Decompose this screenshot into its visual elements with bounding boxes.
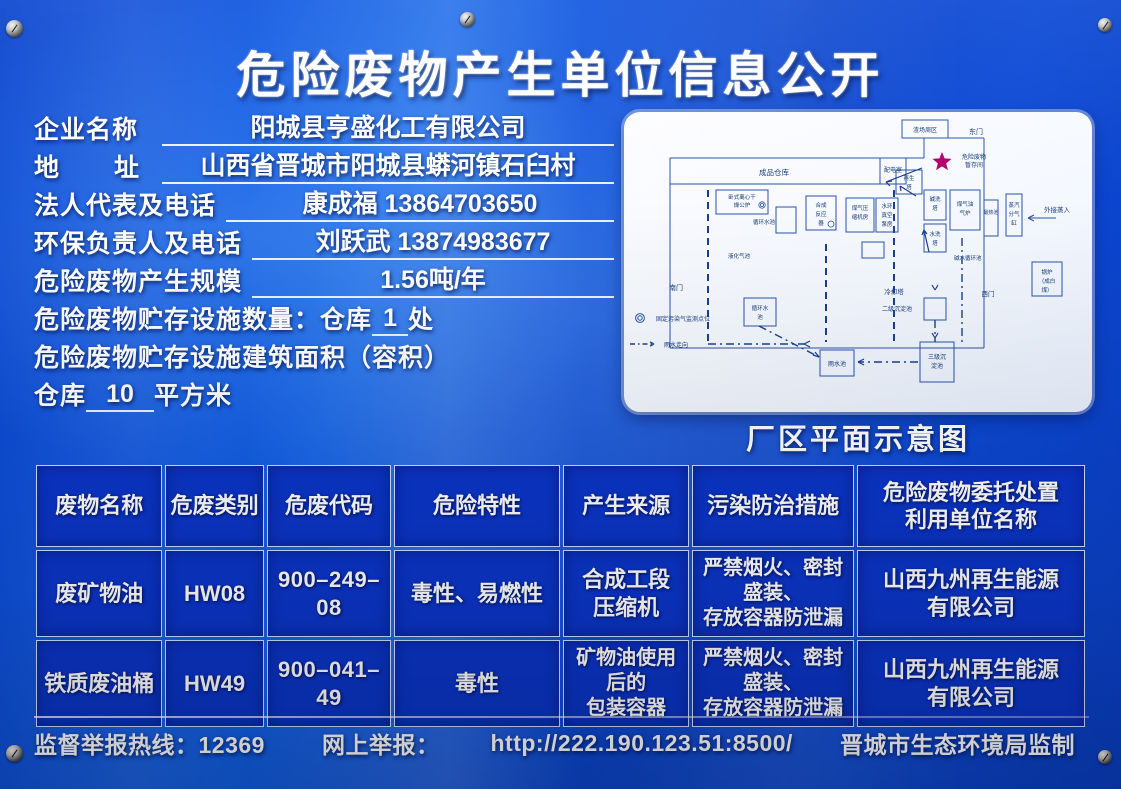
plan-label-alkali-circ: 碱水循环池 <box>954 254 982 262</box>
header-source: 产生来源 <box>563 465 689 547</box>
company-label: 企业名称 <box>34 110 152 146</box>
plan-label-alkali-line2: 塔 <box>932 204 938 212</box>
footer-report-label: 网上举报： <box>312 726 440 760</box>
cell-measures-line1: 严禁烟火、密封盛装、 <box>696 556 850 606</box>
plan-label-circ-water-1: 循环水池 <box>753 218 776 226</box>
plan-label-furnace-line2: 气炉 <box>959 209 971 217</box>
plan-monitor-point-icon-1 <box>759 202 765 208</box>
plan-monitor-point-inner-1-icon <box>760 203 763 206</box>
cell-waste-category: HW08 <box>165 550 263 637</box>
env-officer-label: 环保负责人及电话 <box>34 224 242 260</box>
plan-label-east-gate: 东门 <box>969 127 983 136</box>
header-entrusted-unit-line1: 危险废物委托处置 <box>861 479 1081 507</box>
plan-label-steam-sep-line1: 蒸汽 <box>1008 201 1020 209</box>
cell-hazard-property: 毒性 <box>394 640 560 727</box>
header-waste-name: 废物名称 <box>36 465 162 547</box>
info-row-area-value: 仓库 10 平方米 <box>34 374 614 412</box>
header-hazard-property: 危险特性 <box>394 465 560 547</box>
site-plan-image: 成品仓库 配电室 渣场周区 东门 危险废物 暂存间 <box>624 112 1092 412</box>
plan-label-boiler-line1: 锅炉 <box>1041 268 1053 276</box>
plan-label-centrifuge-line2: 燥公炉 <box>734 201 751 209</box>
plan-label-regeneration-line1: 再生 <box>903 174 915 182</box>
footer-report-url[interactable]: http://222.190.123.51:8500/ <box>487 730 793 757</box>
plan-label-external-steam: 外接蒸入 <box>1044 205 1071 214</box>
plan-label-liquefied-gas: 液化气池 <box>728 252 751 260</box>
cell-measures-line1: 严禁烟火、密封盛装、 <box>696 646 850 696</box>
info-row-legal: 法人代表及电话 康成福 13864703650 <box>34 184 614 222</box>
plan-label-compressor-line1: 煤气压 <box>852 204 869 212</box>
cell-waste-name: 铁质废油桶 <box>36 640 162 727</box>
plan-label-south-gate: 南门 <box>669 283 683 292</box>
generation-scale-label: 危险废物产生规模 <box>34 262 242 298</box>
plan-legend-flow-label: 雨水走向 <box>664 341 688 349</box>
plan-label-third-settling-line1: 三级沉 <box>928 353 946 361</box>
table-row: 废矿物油 HW08 900–249–08 毒性、易燃性 合成工段 压缩机 严禁烟… <box>36 550 1085 637</box>
plan-label-synthesis-line3: 器 <box>818 220 824 227</box>
info-row-env-officer: 环保负责人及电话 刘跃武 13874983677 <box>34 222 614 260</box>
screw-top-middle-icon <box>460 12 475 27</box>
site-plan-drawing: 成品仓库 配电室 渣场周区 东门 危险废物 暂存间 <box>624 112 1092 412</box>
plan-label-compressor-line2: 缩机房 <box>852 213 869 221</box>
info-row-address: 地 址 山西省晋城市阳城县蟒河镇石臼村 <box>34 146 614 184</box>
plan-monitor-point-icon-2 <box>828 221 834 227</box>
plan-label-boiler-line2: （成白 <box>1039 277 1056 285</box>
header-entrusted-unit: 危险废物委托处置 利用单位名称 <box>857 465 1085 547</box>
legal-representative-label: 法人代表及电话 <box>34 186 216 222</box>
plan-label-heat-box: 最热池 <box>983 209 998 216</box>
plan-label-steam-sep-line3: 缸 <box>1011 219 1017 227</box>
plan-label-vacuum-line1: 水环 <box>881 202 893 210</box>
address-value: 山西省晋城市阳城县蟒河镇石臼村 <box>162 151 614 184</box>
plan-label-steam-sep-line2: 分气 <box>1008 210 1020 218</box>
plan-label-furnace-line1: 煤气油 <box>957 200 974 208</box>
cell-entrusted-unit-line2: 有限公司 <box>861 684 1081 712</box>
plan-label-hazard-store-line1: 危险废物 <box>962 153 986 161</box>
plan-label-synthesis-line1: 合成 <box>815 201 827 209</box>
plan-label-circ-pool-line1: 循环水 <box>752 304 769 312</box>
footer-hotline: 监督举报热线：12369 <box>34 726 265 760</box>
plan-label-slag-area: 渣场周区 <box>913 126 937 134</box>
plan-label-vacuum-line3: 泵房 <box>881 220 893 228</box>
screw-bottom-right-icon <box>1098 750 1112 764</box>
hazardous-waste-table: 废物名称 危废类别 危废代码 危险特性 产生来源 污染防治措施 危险废物委托处置… <box>33 462 1088 730</box>
screw-top-right-icon <box>1098 18 1112 32</box>
screw-top-left-icon <box>6 20 23 37</box>
plan-label-synthesis-line2: 反应 <box>815 210 827 218</box>
storage-area-value: 10 <box>86 380 154 412</box>
footer-divider <box>34 716 1089 718</box>
generation-scale-value: 1.56吨/年 <box>252 265 614 298</box>
cell-entrusted-unit-line1: 山西九州再生能源 <box>861 566 1081 594</box>
cell-measures: 严禁烟火、密封盛装、 存放容器防泄漏 <box>692 640 854 727</box>
plan-legend-monitor-icon <box>636 314 645 323</box>
plan-marker-hazard-waste-star-icon <box>933 152 952 170</box>
plan-label-alkali-line1: 碱洗 <box>929 195 941 203</box>
cell-waste-name: 废矿物油 <box>36 550 162 637</box>
plan-label-vacuum-line2: 真空 <box>881 211 893 219</box>
cell-measures-line2: 存放容器防泄漏 <box>696 606 850 631</box>
header-entrusted-unit-line2: 利用单位名称 <box>861 506 1081 534</box>
info-row-facility-count: 危险废物贮存设施数量：仓库 1 处 <box>34 298 614 336</box>
plan-label-centrifuge-line1: 卧式离心干 <box>728 193 756 201</box>
company-info-block: 企业名称 阳城县亨盛化工有限公司 地 址 山西省晋城市阳城县蟒河镇石臼村 法人代… <box>34 108 614 412</box>
header-waste-category: 危废类别 <box>165 465 263 547</box>
cell-waste-code: 900–041–49 <box>267 640 391 727</box>
cell-entrusted-unit-line2: 有限公司 <box>861 594 1081 622</box>
env-officer-value: 刘跃武 13874983677 <box>252 227 614 260</box>
facility-count-label: 危险废物贮存设施数量：仓库 <box>34 300 372 336</box>
address-label: 地 址 <box>34 148 152 184</box>
company-value: 阳城县亨盛化工有限公司 <box>162 113 614 146</box>
cell-entrusted-unit-line1: 山西九州再生能源 <box>861 656 1081 684</box>
cell-source-line2: 压缩机 <box>567 594 685 622</box>
cell-waste-category: HW49 <box>165 640 263 727</box>
facility-count-value: 1 <box>372 304 408 336</box>
cell-source: 矿物油使用后的 包装容器 <box>563 640 689 727</box>
table-row: 铁质废油桶 HW49 900–041–49 毒性 矿物油使用后的 包装容器 严禁… <box>36 640 1085 727</box>
address-label-char2: 址 <box>114 154 140 182</box>
plan-arrow-external-steam-icon <box>1028 215 1056 221</box>
facility-count-unit: 处 <box>408 300 434 336</box>
cell-measures: 严禁烟火、密封盛装、 存放容器防泄漏 <box>692 550 854 637</box>
cell-source: 合成工段 压缩机 <box>563 550 689 637</box>
plan-label-waterwash-line1: 水洗 <box>929 230 941 238</box>
information-board: 危险废物产生单位信息公开 企业名称 阳城县亨盛化工有限公司 地 址 山西省晋城市… <box>0 0 1121 789</box>
plan-label-second-settling: 二级沉淀池 <box>882 305 912 313</box>
info-row-company: 企业名称 阳城县亨盛化工有限公司 <box>34 108 614 146</box>
site-plan-svg: 成品仓库 配电室 渣场周区 东门 危险废物 暂存间 <box>624 112 1092 412</box>
legal-representative-value: 康成福 13864703650 <box>226 189 614 222</box>
plan-label-circ-pool-line2: 池 <box>757 313 763 321</box>
plan-label-waterwash-line2: 塔 <box>932 239 938 247</box>
plan-label-rainwater-pool: 雨水池 <box>828 360 846 368</box>
storage-area-label: 危险废物贮存设施建筑面积（容积） <box>34 338 450 374</box>
footer: 监督举报热线：12369 网上举报： http://222.190.123.51… <box>34 726 1089 760</box>
plan-label-west-gate: 西门 <box>982 289 995 298</box>
site-plan-caption: 厂区平面示意图 <box>624 416 1092 458</box>
info-row-area-label: 危险废物贮存设施建筑面积（容积） <box>34 336 614 374</box>
storage-area-prefix: 仓库 <box>34 376 86 412</box>
header-waste-code: 危废代码 <box>267 465 391 547</box>
address-label-char1: 地 <box>34 154 60 182</box>
cell-source-line1: 矿物油使用后的 <box>567 646 685 696</box>
plan-legend-monitor-label: 固定污染气监测点位 <box>656 315 710 323</box>
plan-legend-monitor-inner-icon <box>638 316 642 320</box>
plan-label-finished-warehouse: 成品仓库 <box>759 167 789 177</box>
plan-label-third-settling-line2: 淀池 <box>931 362 943 370</box>
plan-label-boiler-line3: 煤） <box>1041 286 1052 294</box>
footer-organization: 晋城市生态环境局监制 <box>840 726 1089 760</box>
info-row-scale: 危险废物产生规模 1.56吨/年 <box>34 260 614 298</box>
table-header-row: 废物名称 危废类别 危废代码 危险特性 产生来源 污染防治措施 危险废物委托处置… <box>36 465 1085 547</box>
plan-label-hazard-store-line2: 暂存间 <box>965 161 983 169</box>
cell-entrusted-unit: 山西九州再生能源 有限公司 <box>857 550 1085 637</box>
screw-bottom-left-icon <box>6 745 23 762</box>
header-measures: 污染防治措施 <box>692 465 854 547</box>
page-title: 危险废物产生单位信息公开 <box>0 36 1121 107</box>
cell-waste-code: 900–249–08 <box>267 550 391 637</box>
storage-area-unit: 平方米 <box>154 376 232 412</box>
cell-entrusted-unit: 山西九州再生能源 有限公司 <box>857 640 1085 727</box>
cell-hazard-property: 毒性、易燃性 <box>394 550 560 637</box>
cell-source-line1: 合成工段 <box>567 566 685 594</box>
